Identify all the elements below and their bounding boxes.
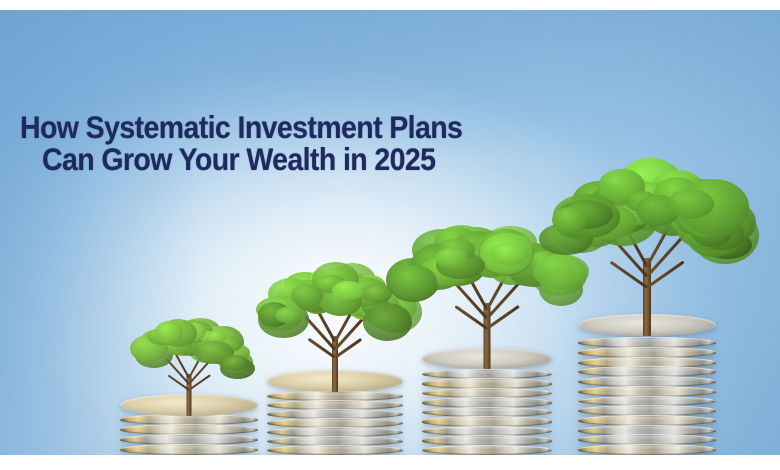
coin-stack-tree-1 — [120, 340, 258, 455]
coin — [422, 445, 552, 456]
foliage-cluster — [490, 242, 529, 265]
coin — [267, 445, 403, 455]
foliage-cluster — [291, 284, 323, 307]
coin-stack-tree-4 — [578, 180, 716, 455]
coin-stack-tree-3 — [422, 238, 552, 455]
tree-canopy — [269, 281, 401, 361]
coin-stack — [578, 326, 716, 455]
coin — [120, 444, 258, 455]
coin-stack — [267, 381, 403, 455]
tree-canopy — [408, 240, 566, 332]
top-white-band — [0, 0, 780, 10]
title-line-1: How Systematic Investment Plans — [20, 112, 462, 144]
coin — [578, 444, 716, 455]
foliage-cluster — [390, 265, 437, 298]
foliage-cluster — [435, 248, 468, 269]
tree-canopy — [137, 331, 241, 393]
coin — [578, 366, 716, 377]
foliage-cluster — [363, 303, 412, 341]
sky-top-shading — [0, 10, 780, 160]
coin-stack — [422, 359, 552, 455]
illustration-scene: How Systematic Investment Plans Can Grow… — [0, 10, 780, 455]
bottom-white-band — [0, 455, 780, 470]
coin-stack-tree-2 — [267, 289, 403, 455]
foliage-cluster — [552, 207, 588, 233]
foliage-cluster — [332, 281, 365, 300]
foliage-cluster — [221, 355, 249, 371]
hero-banner: How Systematic Investment Plans Can Grow… — [0, 0, 780, 470]
foliage-cluster — [155, 321, 183, 344]
tree-canopy — [556, 188, 738, 292]
title-line-2: Can Grow Your Wealth in 2025 — [42, 144, 435, 176]
